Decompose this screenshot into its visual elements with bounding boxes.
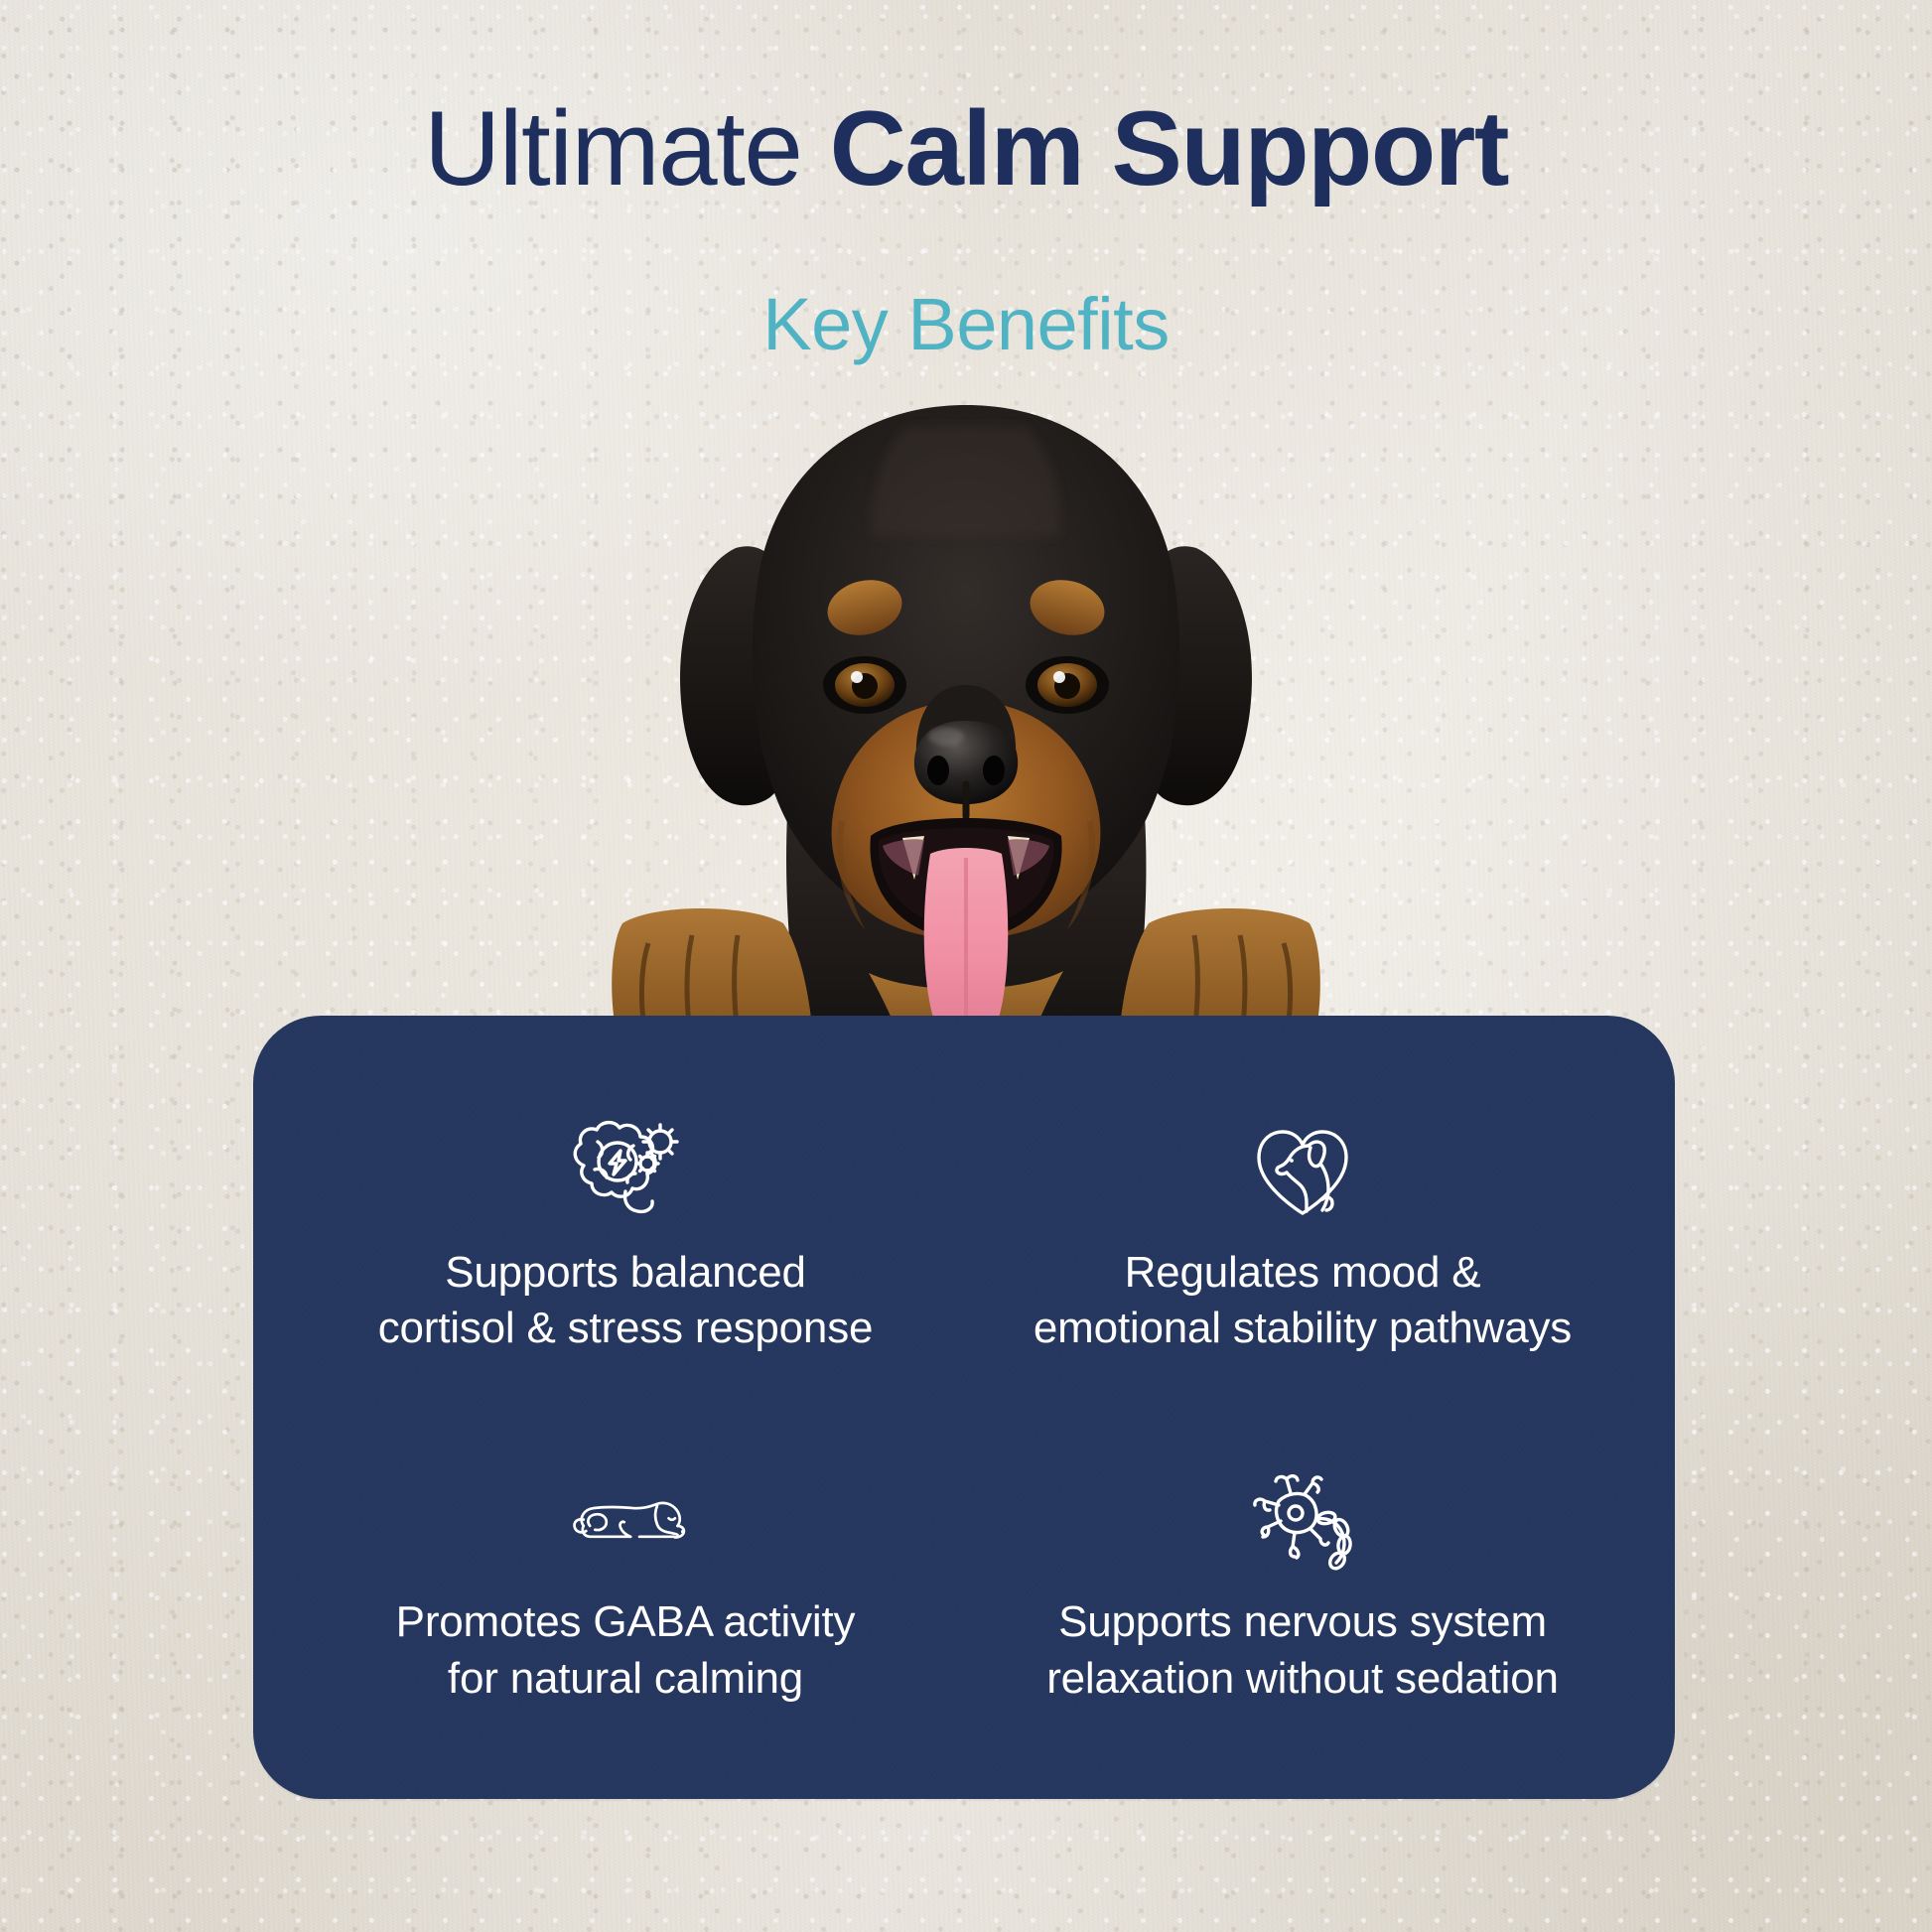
dog-eye-right — [1026, 656, 1109, 714]
header-block: Ultimate Calm Support Key Benefits — [0, 91, 1932, 366]
page-title-bold: Calm Support — [830, 88, 1508, 207]
page-title: Ultimate Calm Support — [0, 91, 1932, 207]
sleeping-dog-icon — [562, 1461, 689, 1573]
benefit-item-4: Supports nervous system relaxation witho… — [964, 1410, 1641, 1760]
benefits-card: Supports balanced cortisol & stress resp… — [253, 1016, 1675, 1799]
dog-eye-left — [823, 656, 906, 714]
page-title-light: Ultimate — [424, 88, 830, 207]
dog-in-heart-icon — [1239, 1112, 1366, 1223]
benefit-item-2: Regulates mood & emotional stability pat… — [964, 1059, 1641, 1410]
benefit-label-2: Regulates mood & emotional stability pat… — [1034, 1245, 1572, 1357]
benefit-label-4: Supports nervous system relaxation witho… — [1046, 1594, 1559, 1707]
hero-dog-image — [609, 387, 1323, 1082]
benefit-item-1: Supports balanced cortisol & stress resp… — [287, 1059, 964, 1410]
brain-gears-icon — [562, 1112, 689, 1223]
benefit-item-3: Promotes GABA activity for natural calmi… — [287, 1410, 964, 1760]
benefit-label-3: Promotes GABA activity for natural calmi… — [396, 1594, 856, 1707]
benefits-grid: Supports balanced cortisol & stress resp… — [253, 1016, 1675, 1799]
benefit-label-1: Supports balanced cortisol & stress resp… — [378, 1245, 874, 1357]
page-subtitle: Key Benefits — [0, 282, 1932, 366]
neuron-icon — [1239, 1461, 1366, 1573]
